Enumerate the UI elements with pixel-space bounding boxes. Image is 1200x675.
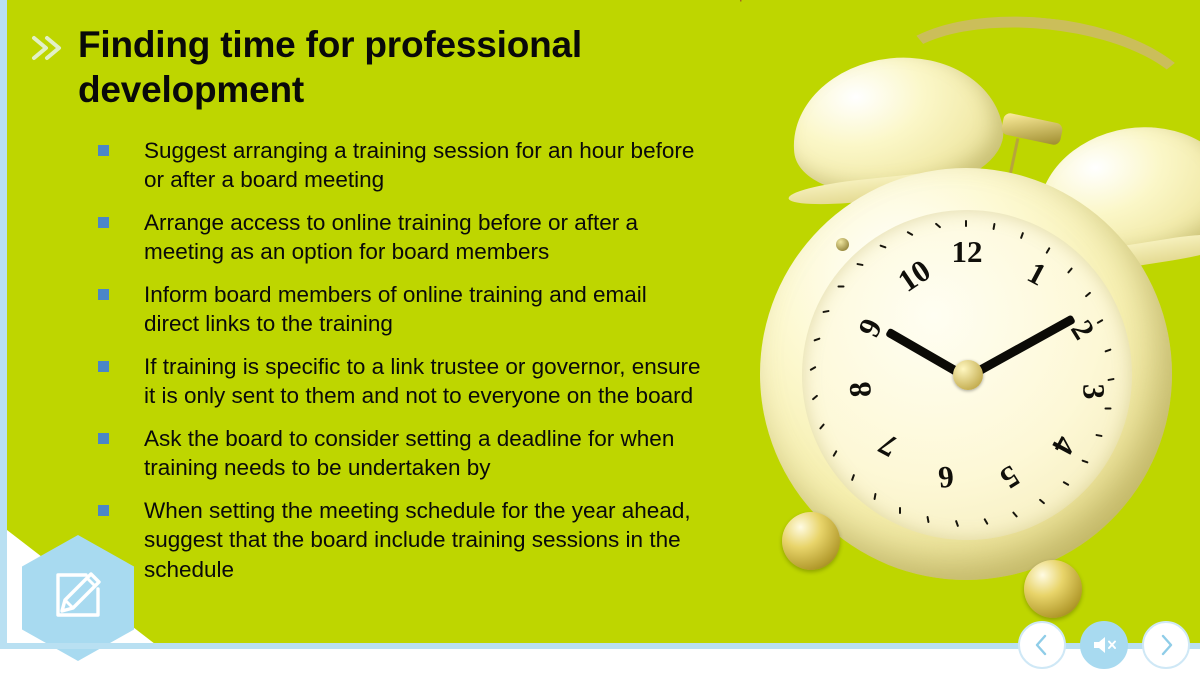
slide-canvas: 12 1 2 3 4 5 6 7 8 9 10 — [0, 0, 1200, 675]
clock-numeral: 4 — [1041, 421, 1087, 471]
clock-winder — [836, 238, 849, 251]
clock-center-pin — [953, 360, 983, 390]
bullet-list: Suggest arranging a training session for… — [96, 136, 701, 597]
double-chevron-right-icon — [28, 28, 68, 68]
list-item-text: Arrange access to online training before… — [144, 208, 701, 267]
bullet-square-icon — [98, 145, 109, 156]
chevron-left-icon — [1029, 632, 1055, 658]
player-controls — [1018, 621, 1193, 673]
next-button[interactable] — [1142, 621, 1190, 669]
pencil-edit-icon — [46, 563, 110, 627]
list-item: Arrange access to online training before… — [96, 208, 701, 267]
clock-numeral: 3 — [1078, 371, 1110, 412]
clock-numeral: 7 — [863, 422, 913, 468]
list-item-text: If training is specific to a link truste… — [144, 352, 701, 411]
clock-foot-left — [782, 512, 840, 570]
bullet-square-icon — [98, 433, 109, 444]
list-item-text: Suggest arranging a training session for… — [144, 136, 701, 195]
previous-button[interactable] — [1018, 621, 1066, 669]
bullet-square-icon — [98, 289, 109, 300]
clock-second-hand — [740, 0, 742, 2]
clock-numeral: 1 — [1012, 250, 1062, 296]
list-item: Suggest arranging a training session for… — [96, 136, 701, 195]
list-item: When setting the meeting schedule for th… — [96, 496, 701, 584]
list-item: Inform board members of online training … — [96, 280, 701, 339]
speaker-mute-icon — [1090, 633, 1118, 657]
mute-button[interactable] — [1080, 621, 1128, 669]
list-item-text: When setting the meeting schedule for th… — [144, 496, 701, 584]
page-title: Finding time for professional developmen… — [78, 22, 678, 112]
alarm-clock-photo: 12 1 2 3 4 5 6 7 8 9 10 — [740, 0, 1200, 644]
list-item-text: Inform board members of online training … — [144, 280, 701, 339]
clock-numeral: 10 — [889, 251, 939, 299]
list-item: Ask the board to consider setting a dead… — [96, 424, 701, 483]
clock-numeral: 2 — [1059, 304, 1106, 354]
bullet-square-icon — [98, 505, 109, 516]
clock-foot-right — [1024, 560, 1082, 618]
left-edge-accent — [0, 0, 7, 645]
chevron-right-icon — [1153, 632, 1179, 658]
clock-numeral: 8 — [843, 368, 877, 410]
clock-numeral: 5 — [985, 454, 1035, 501]
clock-numeral: 9 — [847, 303, 892, 353]
clock-numeral: 12 — [947, 236, 987, 267]
bullet-square-icon — [98, 361, 109, 372]
list-item-text: Ask the board to consider setting a dead… — [144, 424, 701, 483]
list-item: If training is specific to a link truste… — [96, 352, 701, 411]
clock-numeral: 6 — [925, 461, 967, 495]
bullet-square-icon — [98, 217, 109, 228]
